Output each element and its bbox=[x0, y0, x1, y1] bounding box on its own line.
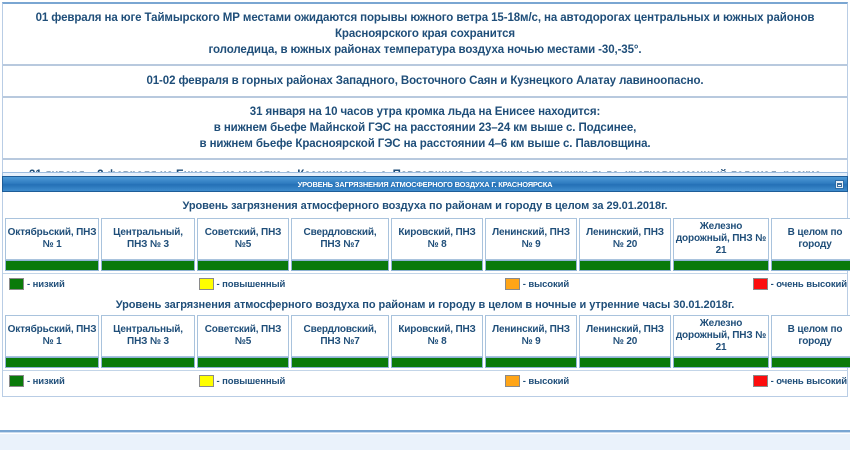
level-bar bbox=[5, 357, 99, 368]
level-bar bbox=[579, 357, 671, 368]
column-header-centralny: Центральный, ПНЗ № 3 bbox=[101, 218, 195, 260]
module-body: Уровень загрязнения атмосферного воздуха… bbox=[2, 192, 848, 397]
air-quality-module: УРОВЕНЬ ЗАГРЯЗНЕНИЯ АТМОСФЕРНОГО ВОЗДУХА… bbox=[2, 172, 848, 397]
column-header-kirovsky: Кировский, ПНЗ № 8 bbox=[391, 218, 483, 260]
column-header-oktyabrsky: Октябрьский, ПНЗ № 1 bbox=[5, 218, 99, 260]
legend-label: - высокий bbox=[523, 279, 569, 290]
column-header-sverdlovsky: Свердловский, ПНЗ №7 bbox=[291, 315, 389, 357]
legend-label: - очень высокий bbox=[771, 279, 847, 290]
warning-block-ice-edge: 31 января на 10 часов утра кромка льда н… bbox=[3, 98, 847, 160]
warning-block-avalanche: 01-02 февраля в горных районах Западного… bbox=[3, 66, 847, 98]
legend-item-very-high: - очень высокий bbox=[753, 375, 847, 387]
page-root: 01 февраля на юге Таймырского МР местами… bbox=[0, 0, 850, 450]
legend-item-low: - низкий bbox=[9, 375, 65, 387]
column-header-sverdlovsky: Свердловский, ПНЗ №7 bbox=[291, 218, 389, 260]
column-header-city-total: В целом по городу bbox=[771, 218, 850, 260]
legend-label: - низкий bbox=[27, 376, 65, 387]
column-header-zheleznodorozhny: Железно дорожный, ПНЗ № 21 bbox=[673, 218, 769, 260]
level-bar bbox=[197, 260, 289, 271]
column-header-leninsky-20: Ленинский, ПНЗ № 20 bbox=[579, 218, 671, 260]
warning-line: 31 января на 10 часов утра кромка льда н… bbox=[11, 104, 839, 120]
pollution-table-30: Октябрьский, ПНЗ № 1 Центральный, ПНЗ № … bbox=[3, 315, 850, 368]
section-title: Уровень загрязнения атмосферного воздуха… bbox=[3, 293, 847, 315]
legend-label: - повышенный bbox=[217, 376, 286, 387]
module-title: УРОВЕНЬ ЗАГРЯЗНЕНИЯ АТМОСФЕРНОГО ВОЗДУХА… bbox=[298, 180, 553, 189]
legend-label: - повышенный bbox=[217, 279, 286, 290]
column-header-zheleznodorozhny: Железно дорожный, ПНЗ № 21 bbox=[673, 315, 769, 357]
collapse-glyph bbox=[837, 183, 842, 187]
collapse-icon[interactable] bbox=[835, 180, 844, 189]
legend-swatch-very-high bbox=[753, 375, 768, 387]
legend-row-1: - низкий - повышенный - высокий bbox=[3, 273, 847, 293]
level-bar bbox=[771, 260, 850, 271]
level-bar bbox=[673, 260, 769, 271]
warning-line: 01 февраля на юге Таймырского МР местами… bbox=[11, 10, 839, 42]
legend-swatch-low bbox=[9, 278, 24, 290]
table-row bbox=[5, 357, 850, 368]
table-row bbox=[5, 260, 850, 271]
legend-swatch-low bbox=[9, 375, 24, 387]
column-header-sovetsky: Советский, ПНЗ №5 bbox=[197, 218, 289, 260]
legend-item-elevated: - повышенный bbox=[199, 278, 286, 290]
legend-swatch-high bbox=[505, 375, 520, 387]
level-bar bbox=[101, 357, 195, 368]
warning-block-wind-ice: 01 февраля на юге Таймырского МР местами… bbox=[3, 4, 847, 66]
level-bar bbox=[771, 357, 850, 368]
level-bar bbox=[5, 260, 99, 271]
warning-line: в нижнем бьефе Майнской ГЭС на расстояни… bbox=[11, 120, 839, 136]
legend-swatch-high bbox=[505, 278, 520, 290]
bottom-divider bbox=[0, 430, 850, 433]
level-bar bbox=[485, 260, 577, 271]
level-bar bbox=[579, 260, 671, 271]
column-header-kirovsky: Кировский, ПНЗ № 8 bbox=[391, 315, 483, 357]
column-header-city-total: В целом по городу bbox=[771, 315, 850, 357]
column-header-oktyabrsky: Октябрьский, ПНЗ № 1 bbox=[5, 315, 99, 357]
legend-item-high: - высокий bbox=[505, 278, 569, 290]
pollution-table-29: Октябрьский, ПНЗ № 1 Центральный, ПНЗ № … bbox=[3, 218, 850, 271]
legend-swatch-elevated bbox=[199, 278, 214, 290]
warning-line: 01-02 февраля в горных районах Западного… bbox=[11, 73, 839, 89]
column-header-leninsky-9: Ленинский, ПНЗ № 9 bbox=[485, 315, 577, 357]
legend-label: - низкий bbox=[27, 279, 65, 290]
legend-item-very-high: - очень высокий bbox=[753, 278, 847, 290]
level-bar bbox=[197, 357, 289, 368]
warning-line: в нижнем бьефе Красноярской ГЭС на расст… bbox=[11, 136, 839, 152]
legend-item-high: - высокий bbox=[505, 375, 569, 387]
module-header-bar: УРОВЕНЬ ЗАГРЯЗНЕНИЯ АТМОСФЕРНОГО ВОЗДУХА… bbox=[2, 176, 848, 192]
column-header-centralny: Центральный, ПНЗ № 3 bbox=[101, 315, 195, 357]
legend-label: - высокий bbox=[523, 376, 569, 387]
column-header-sovetsky: Советский, ПНЗ №5 bbox=[197, 315, 289, 357]
legend-row-2: - низкий - повышенный - высокий bbox=[3, 370, 847, 390]
bottom-strip bbox=[0, 434, 850, 450]
level-bar bbox=[291, 357, 389, 368]
section-title: Уровень загрязнения атмосферного воздуха… bbox=[3, 192, 847, 218]
level-bar bbox=[391, 260, 483, 271]
level-bar bbox=[391, 357, 483, 368]
legend-label: - очень высокий bbox=[771, 376, 847, 387]
column-header-leninsky-20: Ленинский, ПНЗ № 20 bbox=[579, 315, 671, 357]
section-pollution-30-01-2018: Уровень загрязнения атмосферного воздуха… bbox=[3, 293, 847, 390]
table-header-row: Октябрьский, ПНЗ № 1 Центральный, ПНЗ № … bbox=[5, 218, 850, 260]
table-header-row: Октябрьский, ПНЗ № 1 Центральный, ПНЗ № … bbox=[5, 315, 850, 357]
level-bar bbox=[101, 260, 195, 271]
legend-item-elevated: - повышенный bbox=[199, 375, 286, 387]
legend-swatch-very-high bbox=[753, 278, 768, 290]
legend-swatch-elevated bbox=[199, 375, 214, 387]
legend-item-low: - низкий bbox=[9, 278, 65, 290]
column-header-leninsky-9: Ленинский, ПНЗ № 9 bbox=[485, 218, 577, 260]
warning-line: гололедица, в южных районах температура … bbox=[11, 42, 839, 58]
level-bar bbox=[485, 357, 577, 368]
level-bar bbox=[673, 357, 769, 368]
level-bar bbox=[291, 260, 389, 271]
section-pollution-29-01-2018: Уровень загрязнения атмосферного воздуха… bbox=[3, 192, 847, 293]
